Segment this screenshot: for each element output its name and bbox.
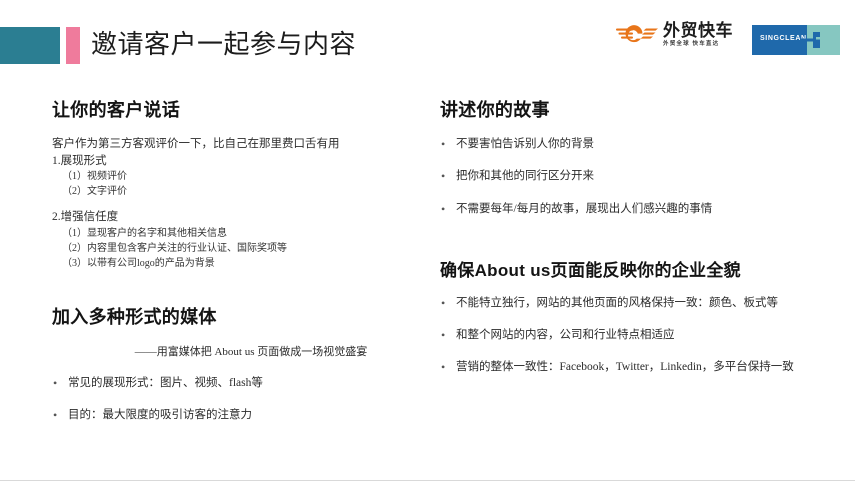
- left-column: 让你的客户说话 客户作为第三方客观评价一下，比自己在那里费口舌有用 1.展现形式…: [52, 96, 422, 440]
- list-item: 不能特立独行，网站的其他页面的风格保持一致：颜色、板式等: [440, 295, 815, 312]
- waimao-logo-tagline: 外贸全球 快车直达: [663, 42, 733, 48]
- right-column: 讲述你的故事 不要害怕告诉别人你的背景 把你和其他的同行区分开来 不需要每年/每…: [440, 96, 815, 392]
- waimao-kuaiche-logo: 外贸快车 外贸全球 快车直达: [616, 22, 733, 48]
- list-item: 把你和其他的同行区分开来: [440, 168, 815, 185]
- left-section1-item2-sub-1: （1）显现客户的名字和其他相关信息: [62, 226, 422, 241]
- left-section2-bullet-list: 常见的展现形式：图片、视频、flash等 目的：最大限度的吸引访客的注意力: [52, 375, 422, 425]
- left-section1-item1-sub-1: （1）视频评价: [62, 169, 422, 184]
- list-item: 营销的整体一致性：Facebook，Twitter，Linkedin，多平台保持…: [440, 359, 815, 376]
- left-section2-subtitle: ——用富媒体把 About us 页面做成一场视觉盛宴: [80, 343, 422, 359]
- left-section-customer-voice: 让你的客户说话 客户作为第三方客观评价一下，比自己在那里费口舌有用 1.展现形式…: [52, 96, 422, 271]
- left-section1-item2: 2.增强信任度: [52, 209, 422, 226]
- right-section1-bullet-list: 不要害怕告诉别人你的背景 把你和其他的同行区分开来 不需要每年/每月的故事，展现…: [440, 136, 815, 218]
- winged-c-icon: [616, 22, 658, 48]
- list-item: 目的：最大限度的吸引访客的注意力: [52, 407, 422, 424]
- singclean-bracket-icon: [800, 32, 822, 53]
- list-item: 和整个网站的内容，公司和行业特点相适应: [440, 327, 815, 344]
- list-item: 不要害怕告诉别人你的背景: [440, 136, 815, 153]
- left-section1-item2-sub-2: （2）内容里包含客户关注的行业认证、国际奖项等: [62, 241, 422, 256]
- pink-accent-bar: [66, 27, 80, 64]
- right-section1-heading: 讲述你的故事: [440, 96, 815, 122]
- teal-accent-bar: [0, 27, 60, 64]
- list-item: 常见的展现形式：图片、视频、flash等: [52, 375, 422, 392]
- waimao-logo-name: 外贸快车: [663, 22, 733, 39]
- presentation-slide: 邀请客户一起参与内容 外贸快车 外贸全球 快: [0, 0, 855, 481]
- list-item: 不需要每年/每月的故事，展现出人们感兴趣的事情: [440, 201, 815, 218]
- page-title: 邀请客户一起参与内容: [91, 24, 356, 61]
- singclean-logo: SINGCLEAN: [752, 25, 840, 55]
- left-section1-item2-sub-3: （3）以带有公司logo的产品为背景: [62, 256, 422, 271]
- left-section1-item1: 1.展现形式: [52, 153, 422, 170]
- left-section1-intro: 客户作为第三方客观评价一下，比自己在那里费口舌有用: [52, 136, 422, 153]
- left-section-rich-media: 加入多种形式的媒体 ——用富媒体把 About us 页面做成一场视觉盛宴 常见…: [52, 303, 422, 425]
- left-section1-heading: 让你的客户说话: [52, 96, 422, 122]
- right-section2-bullet-list: 不能特立独行，网站的其他页面的风格保持一致：颜色、板式等 和整个网站的内容，公司…: [440, 295, 815, 377]
- right-section-tell-story: 讲述你的故事 不要害怕告诉别人你的背景 把你和其他的同行区分开来 不需要每年/每…: [440, 96, 815, 218]
- left-section2-heading: 加入多种形式的媒体: [52, 303, 422, 329]
- right-section-about-us: 确保About us页面能反映你的企业全貌 不能特立独行，网站的其他页面的风格保…: [440, 256, 815, 377]
- right-section2-heading: 确保About us页面能反映你的企业全貌: [440, 256, 815, 281]
- left-section1-item1-sub-2: （2）文字评价: [62, 184, 422, 199]
- slide-header: 邀请客户一起参与内容 外贸快车 外贸全球 快: [0, 0, 855, 78]
